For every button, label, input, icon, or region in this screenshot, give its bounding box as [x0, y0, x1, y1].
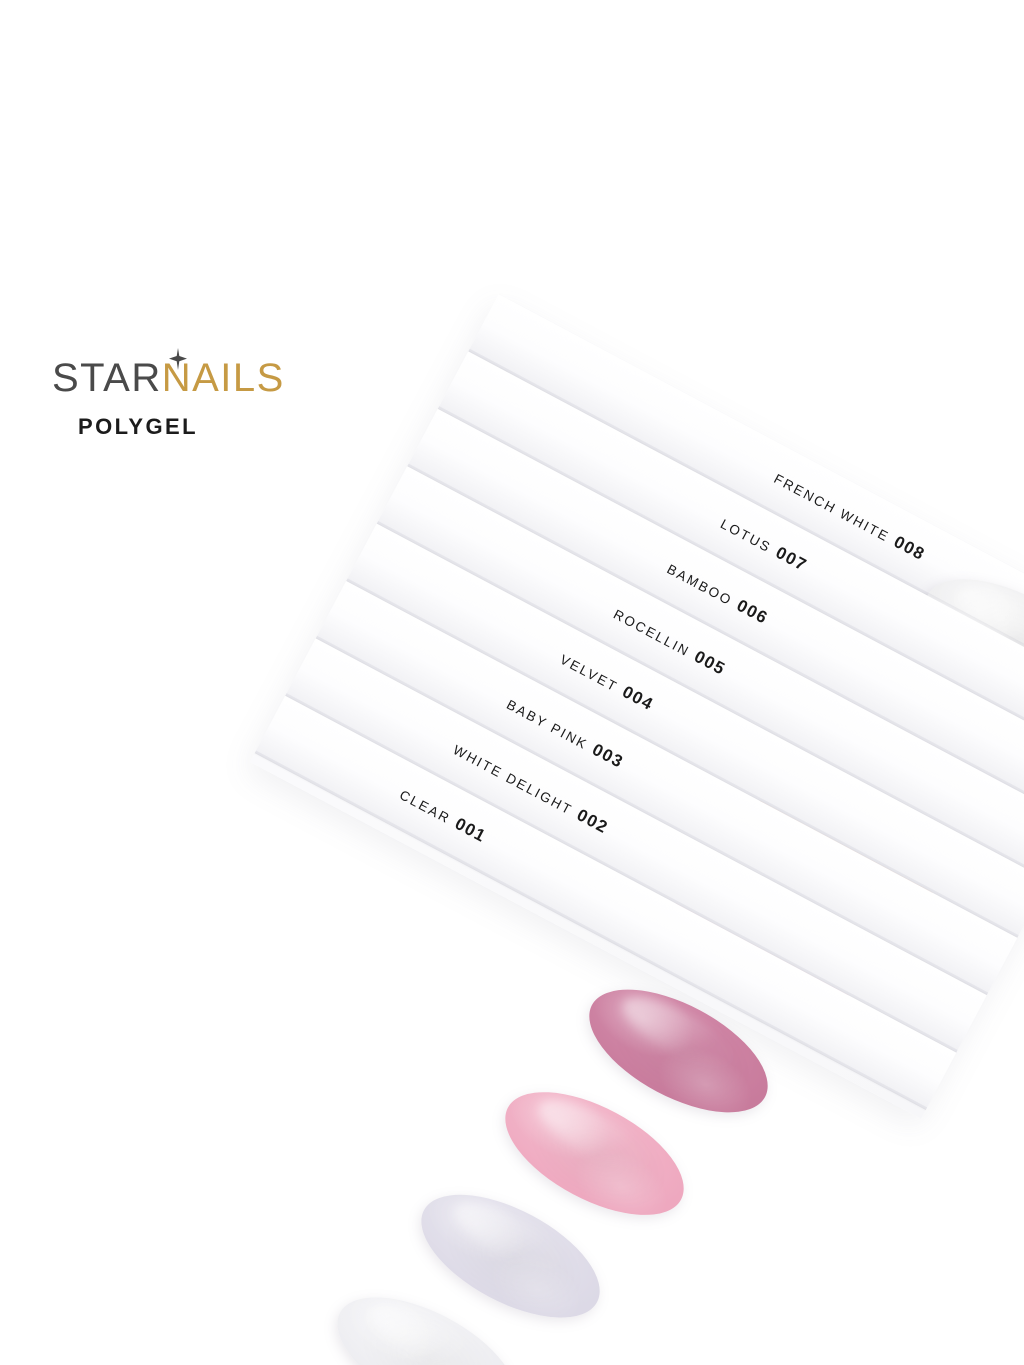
swatch-name: CLEAR	[397, 787, 453, 826]
brand-wordmark: STARNAILS	[52, 358, 332, 398]
card-wrapper: FRENCH WHITE008LOTUS007BAMBOO006ROCELLIN…	[0, 0, 1024, 1365]
swatch-code: 006	[734, 596, 772, 628]
swatch-name: LOTUS	[718, 516, 774, 555]
swatch-code: 002	[574, 805, 612, 837]
brand-name-star: STAR	[52, 356, 162, 400]
brand-logo-block: STARNAILS POLYGEL	[52, 358, 332, 440]
swatch-name: ROCELLIN	[611, 607, 692, 660]
swatch-code: 008	[891, 532, 929, 564]
swatch-card[interactable]: FRENCH WHITE008LOTUS007BAMBOO006ROCELLIN…	[250, 294, 1024, 1119]
swatch-name: BABY PINK	[504, 697, 590, 752]
swatch-code: 005	[691, 647, 729, 679]
product-line-title: POLYGEL	[78, 414, 332, 440]
swatch-code: 004	[619, 682, 657, 714]
swatch-name: BAMBOO	[664, 561, 735, 608]
swatch-code: 001	[452, 814, 490, 846]
swatch-name: VELVET	[558, 652, 621, 695]
swatch-code: 003	[589, 740, 627, 772]
swatch-code: 007	[773, 543, 811, 575]
swatch-card-photo: STARNAILS POLYGEL FRENCH WHITE008LOTUS00…	[0, 0, 1024, 1365]
brand-name-nails: NAILS	[162, 356, 285, 400]
